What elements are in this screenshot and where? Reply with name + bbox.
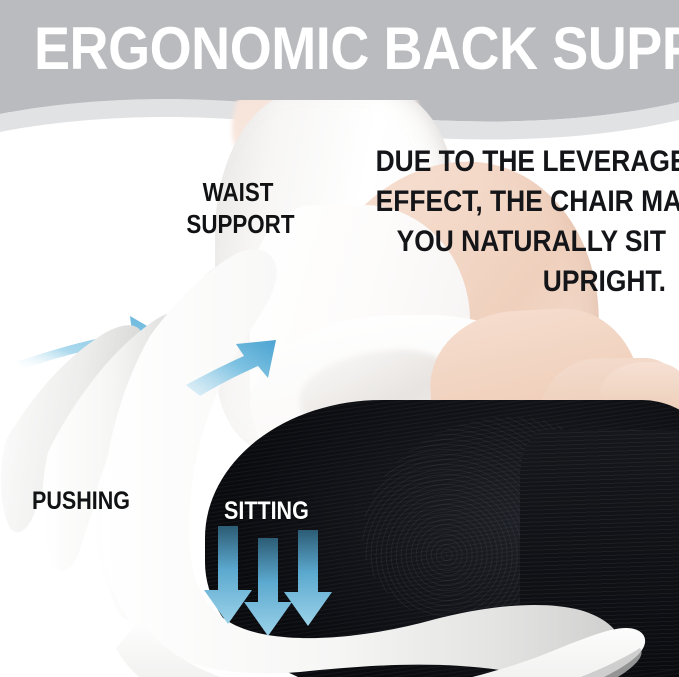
headline-line-1: DUE TO THE LEVERAGE <box>376 142 666 182</box>
product-photo: WAIST SUPPORT PUSHING SITTING DUE TO THE… <box>0 100 679 677</box>
sitting-label: SITTING <box>224 497 309 526</box>
pushing-label: PUSHING <box>32 487 130 516</box>
page-title: ERGONOMIC BACK SUPPORT <box>34 18 645 80</box>
headline-line-2: EFFECT, THE CHAIR MAKES <box>376 182 666 222</box>
waist-support-line-1: WAIST <box>186 176 289 208</box>
sitting-arrow-3 <box>284 530 332 626</box>
product-infographic: ERGONOMIC BACK SUPPORT <box>0 0 679 677</box>
chair-backrest-shell <box>101 249 621 673</box>
sitting-arrow-2 <box>244 538 292 636</box>
headline-text: DUE TO THE LEVERAGE EFFECT, THE CHAIR MA… <box>376 142 666 302</box>
waist-support-line-2: SUPPORT <box>186 208 289 240</box>
waist-support-label: WAIST SUPPORT <box>186 176 289 240</box>
headline-line-4: UPRIGHT. <box>376 262 666 302</box>
headline-line-3: YOU NATURALLY SIT <box>376 222 666 262</box>
